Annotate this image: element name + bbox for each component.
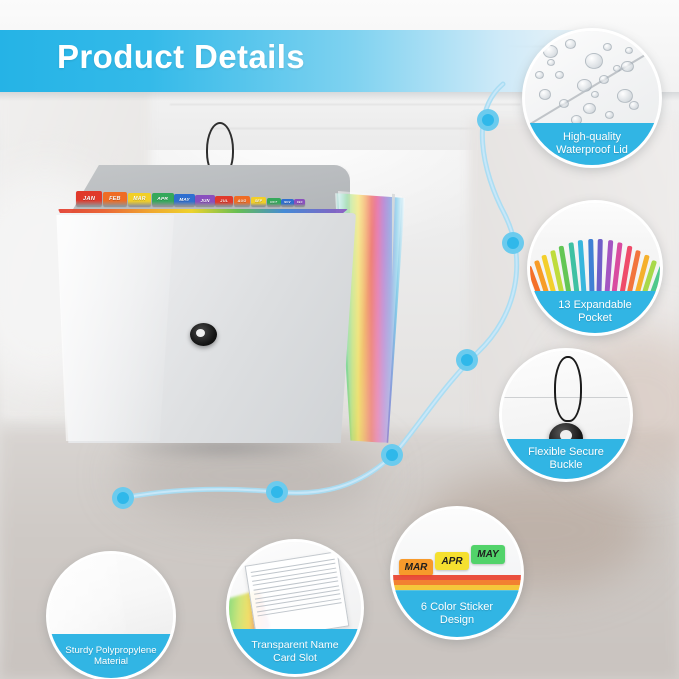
water-droplet (583, 103, 596, 114)
month-tab-row: JANFEBMARAPRMAYJUNJULAUGSEPOCTNOVDEC (76, 191, 358, 213)
water-droplet (577, 79, 592, 92)
callout-caption-card-slot: Transparent Name Card Slot (229, 629, 361, 674)
product-front-panel-highlight (54, 215, 174, 441)
callout-secure-buckle[interactable]: Flexible Secure Buckle (499, 348, 633, 482)
water-droplet (543, 45, 558, 58)
caption-line-1: 6 Color Sticker (421, 601, 493, 614)
callout-color-sticker[interactable]: MARAPRMAY 6 Color Sticker Design (390, 506, 524, 640)
month-tab-dec: DEC (294, 199, 305, 205)
callout-caption-sticker: 6 Color Sticker Design (393, 591, 521, 637)
caption-line-2: Buckle (549, 459, 582, 472)
callout-polypropylene-material[interactable]: Sturdy Polypropylene Material (46, 551, 176, 679)
caption-line-2: Pocket (578, 312, 612, 325)
sticker-tab-may: MAY (471, 545, 505, 564)
connector-node-buckle (456, 349, 478, 371)
callout-name-card-slot[interactable]: Transparent Name Card Slot (226, 539, 364, 677)
sticker-tab-mar: MAR (399, 559, 433, 576)
month-tab-nov: NOV (281, 199, 293, 206)
buckle-button-hole (196, 329, 205, 337)
buckle-elastic-loop-icon (554, 356, 582, 422)
water-droplet (613, 65, 621, 72)
caption-line-2: Waterproof Lid (556, 144, 628, 157)
water-droplet (547, 59, 555, 66)
water-droplet (621, 61, 634, 72)
water-droplet (605, 111, 614, 119)
sticker-tab-apr: APR (435, 552, 469, 570)
water-droplet (625, 47, 633, 54)
month-tab-aug: AUG (234, 196, 251, 206)
water-droplet (535, 71, 544, 79)
water-droplet (539, 89, 551, 100)
connector-node-material (112, 487, 134, 509)
month-tab-oct: OCT (267, 198, 281, 206)
lid-edge-line (522, 30, 662, 135)
callout-waterproof-lid[interactable]: High-quality Waterproof Lid (522, 28, 662, 168)
month-tab-mar: MAR (128, 193, 151, 206)
callout-caption-waterproof: High-quality Waterproof Lid (525, 123, 659, 165)
month-tab-jan: JAN (76, 191, 102, 206)
caption-line-2: Design (440, 614, 474, 627)
caption-line-2: Material (94, 656, 128, 667)
month-tab-jun: JUN (195, 195, 214, 206)
connector-node-pocket (502, 232, 524, 254)
water-droplet (629, 101, 639, 110)
callout-caption-pocket: 13 Expandable Pocket (530, 291, 660, 333)
product-image-expanding-file: JANFEBMARAPRMAYJUNJULAUGSEPOCTNOVDEC (50, 125, 400, 465)
page-title: Product Details (57, 38, 305, 76)
caption-line-1: Transparent Name (251, 639, 338, 651)
water-droplet (599, 75, 609, 84)
water-droplet (565, 39, 576, 49)
name-card-sheet (245, 551, 350, 641)
callout-expandable-pocket[interactable]: 13 Expandable Pocket (527, 200, 663, 336)
caption-line-1: 13 Expandable (558, 299, 631, 312)
ceiling-line-2 (170, 104, 520, 105)
month-tab-may: MAY (174, 194, 195, 206)
month-tab-jul: JUL (215, 196, 233, 206)
water-droplet (585, 53, 603, 69)
caption-line-1: Flexible Secure (528, 446, 604, 459)
water-droplet (591, 91, 599, 98)
caption-line-1: High-quality (563, 131, 621, 144)
water-droplet (555, 71, 564, 79)
month-tab-feb: FEB (103, 192, 128, 206)
callout-caption-material: Sturdy Polypropylene Material (49, 634, 173, 678)
water-droplet (603, 43, 612, 51)
water-droplet (559, 99, 569, 108)
callout-caption-buckle: Flexible Secure Buckle (502, 439, 630, 479)
month-tab-sep: SEP (251, 197, 266, 206)
connector-node-card-slot (266, 481, 288, 503)
caption-line-1: Sturdy Polypropylene (65, 645, 156, 656)
month-tab-apr: APR (152, 193, 174, 206)
connector-node-waterproof (477, 109, 499, 131)
caption-line-2: Card Slot (273, 652, 317, 664)
infographic-canvas: Product Details JANFEBMARAPRMAYJUNJULAUG… (0, 0, 679, 679)
